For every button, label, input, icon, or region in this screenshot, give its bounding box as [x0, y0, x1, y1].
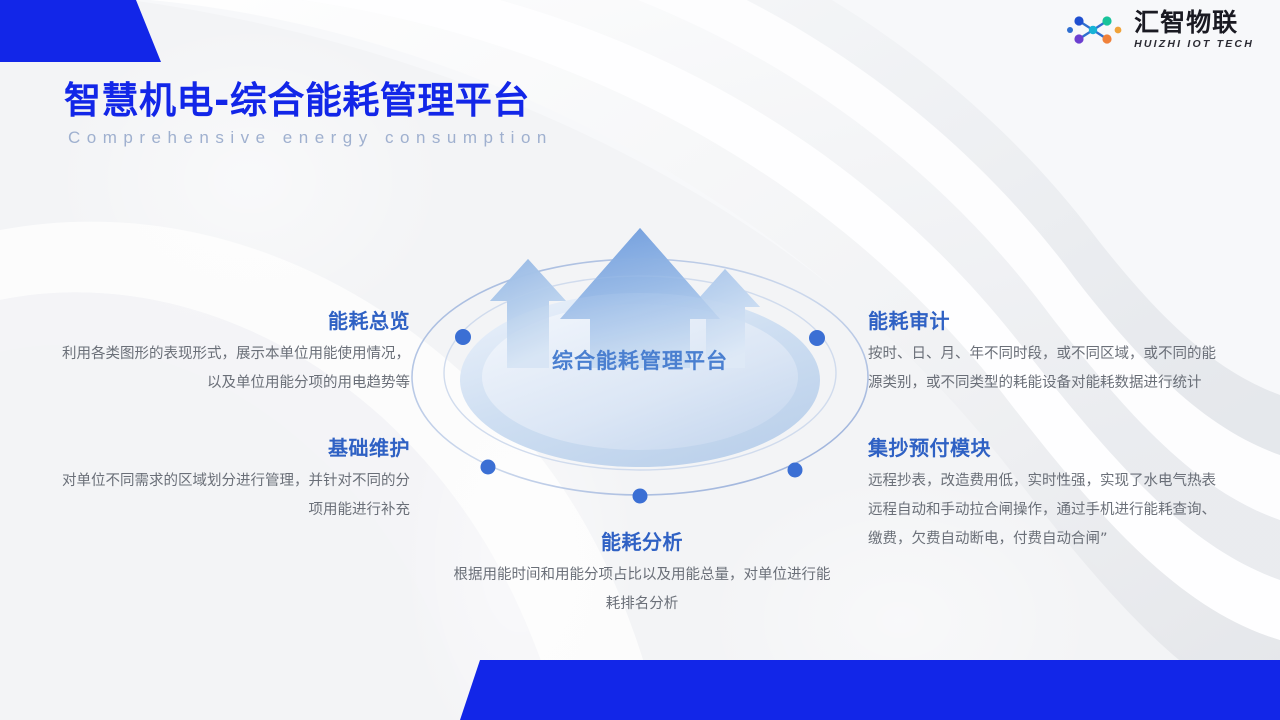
- page-title: 智慧机电-综合能耗管理平台: [64, 70, 530, 124]
- orbit-dot: [455, 329, 471, 345]
- brand-logo: 汇智物联 HUIZHI IOT TECH: [1066, 10, 1254, 50]
- section-overview: 能耗总览 利用各类图形的表现形式，展示本单位用能使用情况，以及单位用能分项的用电…: [55, 305, 410, 398]
- center-platform-label: 综合能耗管理平台: [440, 345, 840, 375]
- slide-canvas: 汇智物联 HUIZHI IOT TECH 智慧机电-综合能耗管理平台 Compr…: [0, 0, 1280, 720]
- section-overview-body: 利用各类图形的表现形式，展示本单位用能使用情况，以及单位用能分项的用电趋势等: [55, 340, 410, 398]
- page-subtitle: Comprehensive energy consumption: [68, 128, 553, 148]
- section-overview-heading: 能耗总览: [55, 305, 410, 334]
- section-prepay: 集抄预付模块 远程抄表，改造费用低，实时性强，实现了水电气热表远程自动和手动拉合…: [868, 432, 1228, 554]
- orbit-dot: [809, 330, 825, 346]
- section-analysis: 能耗分析 根据用能时间和用能分项占比以及用能总量，对单位进行能耗排名分析: [452, 526, 832, 619]
- section-prepay-heading: 集抄预付模块: [868, 432, 1228, 461]
- orbit-dot: [788, 463, 803, 478]
- section-prepay-body: 远程抄表，改造费用低，实时性强，实现了水电气热表远程自动和手动拉合闸操作，通过手…: [868, 467, 1228, 554]
- network-molecule-icon: [1066, 10, 1126, 50]
- section-audit: 能耗审计 按时、日、月、年不同时段，或不同区域，或不同的能源类别，或不同类型的耗…: [868, 305, 1228, 398]
- section-maintenance-body: 对单位不同需求的区域划分进行管理，并针对不同的分项用能进行补充: [55, 467, 410, 525]
- logo-name-cn: 汇智物联: [1134, 10, 1254, 35]
- orbit-dot: [481, 460, 496, 475]
- section-analysis-body: 根据用能时间和用能分项占比以及用能总量，对单位进行能耗排名分析: [452, 561, 832, 619]
- orbit-dot: [633, 489, 648, 504]
- section-maintenance: 基础维护 对单位不同需求的区域划分进行管理，并针对不同的分项用能进行补充: [55, 432, 410, 525]
- section-maintenance-heading: 基础维护: [55, 432, 410, 461]
- section-analysis-heading: 能耗分析: [452, 526, 832, 555]
- logo-name-en: HUIZHI IOT TECH: [1134, 39, 1254, 50]
- section-audit-heading: 能耗审计: [868, 305, 1228, 334]
- section-audit-body: 按时、日、月、年不同时段，或不同区域，或不同的能源类别，或不同类型的耗能设备对能…: [868, 340, 1228, 398]
